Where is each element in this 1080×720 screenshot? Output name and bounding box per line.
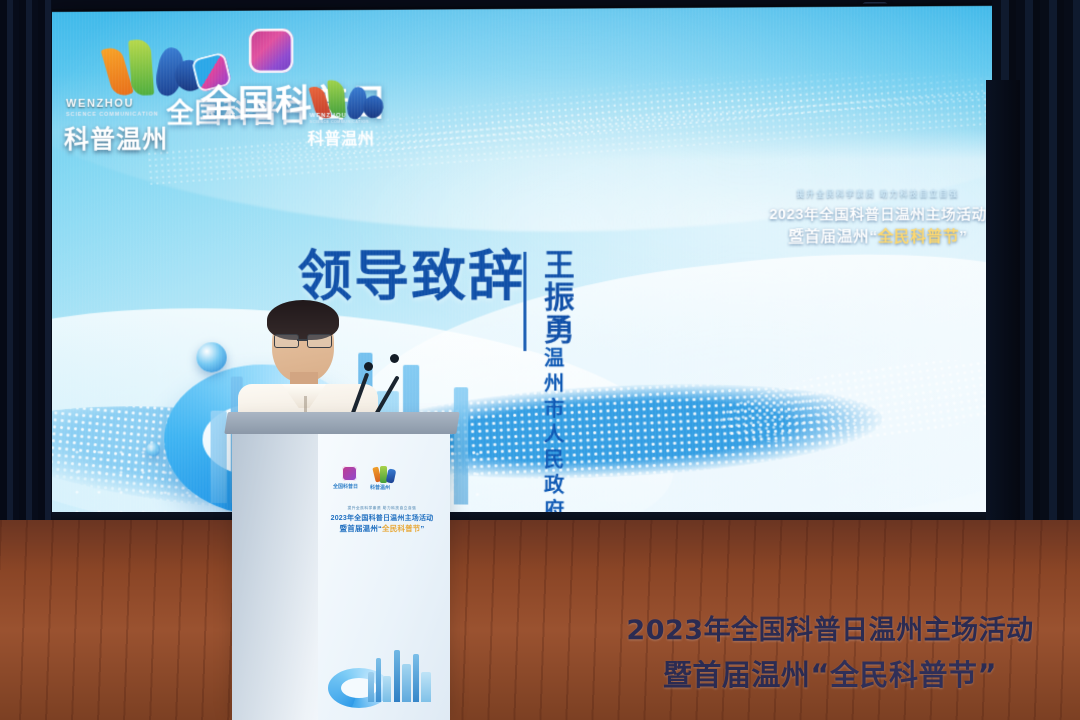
podium-logo-row: 全国科普日 科普温州 bbox=[336, 466, 402, 496]
caption-suffix: ” bbox=[978, 658, 998, 692]
podium-top-surface bbox=[224, 412, 459, 434]
led-video-wall: WENZHOU SCIENCE COMMUNICATION 科普温州 全国科普日… bbox=[46, 6, 1019, 527]
logo-en-primary: WENZHOU bbox=[310, 113, 347, 119]
podium-event-block: 提升全民科学素质 助力科技自立自强 2023年全国科普日温州主场活动 暨首届温州… bbox=[324, 506, 440, 534]
event-title-suffix: ” bbox=[959, 228, 967, 245]
slide-speaker-info: 王 振 勇 温州市人民政府副市长 温州市全民科学素质工作领导小组 组长 bbox=[544, 250, 585, 527]
podium-logo-right-label: 科普温州 bbox=[370, 484, 390, 491]
speaker-name: 王 振 勇 bbox=[544, 250, 585, 347]
logo-en-secondary: SCIENCE COMMUNICATION bbox=[66, 112, 159, 118]
glasses-icon bbox=[274, 334, 332, 346]
logo-en-secondary: SCIENCE COMMUNICATION bbox=[310, 120, 369, 124]
podium-logo-science-day: 全国科普日 bbox=[336, 466, 366, 496]
caption-line1: 2023年全国科普日温州主场活动 bbox=[600, 608, 1060, 647]
event-title-line1: 2023年全国科普日温州主场活动 bbox=[748, 203, 1009, 224]
podium-side-panel bbox=[232, 424, 320, 720]
microphone-head-icon bbox=[390, 354, 399, 363]
slide-speaker-panel: 领导致辞 王 振 勇 温州市人民政府副市长 温州市全民科学素质工作领导小组 组长 bbox=[297, 250, 525, 305]
podium-title-line2: 暨首届温州“全民科普节” bbox=[324, 523, 440, 534]
podium-title-prefix: 暨首届温州“ bbox=[340, 524, 382, 533]
slide-lead-label: 领导致辞 bbox=[297, 250, 525, 305]
bottom-caption: 2023年全国科普日温州主场活动 暨首届温州“全民科普节” bbox=[600, 608, 1060, 694]
stage-scene: WENZHOU SCIENCE COMMUNICATION 科普温州 全国科普日… bbox=[0, 0, 1080, 720]
screen-orb-graphic bbox=[146, 442, 160, 456]
caption-highlight: 全民科普节 bbox=[830, 658, 978, 692]
podium-skyline-graphic bbox=[366, 640, 438, 702]
screen-event-title-block: 提升全民科学素质 助力科技自立自强 2023年全国科普日温州主场活动 暨首届温州… bbox=[748, 188, 1009, 247]
event-title-highlight: 全民科普节 bbox=[878, 228, 959, 245]
podium-title-highlight: 全民科普节 bbox=[382, 524, 421, 533]
event-title-line2: 暨首届温州“全民科普节” bbox=[748, 225, 1009, 247]
science-day-cube-icon bbox=[249, 29, 293, 73]
screen-logo-row: WENZHOU SCIENCE COMMUNICATION 科普温州 全国科普日… bbox=[54, 20, 397, 147]
logo-en-primary: WENZHOU bbox=[66, 98, 134, 110]
logo-cn-name: 科普温州 bbox=[308, 125, 375, 149]
event-slogan: 提升全民科学素质 助力科技自立自强 bbox=[748, 188, 1009, 200]
stage-curtain-left bbox=[0, 0, 52, 560]
logo-cn-name: 科普温州 bbox=[64, 120, 168, 156]
podium-slogan: 提升全民科学素质 助力科技自立自强 bbox=[324, 506, 440, 511]
microphone-head-icon bbox=[364, 362, 373, 371]
caption-line2: 暨首届温州“全民科普节” bbox=[600, 652, 1060, 694]
speaker-title-1: 温州市人民政府副市长 bbox=[544, 346, 585, 526]
podium-graphic bbox=[328, 636, 438, 708]
podium-logo-left-label: 全国科普日 bbox=[333, 483, 358, 490]
logo-wenzhou-small: WENZHOU SCIENCE COMMUNICATION 科普温州 bbox=[295, 78, 392, 153]
wenzhou-fan-icon bbox=[110, 37, 200, 100]
podium-title-line1: 2023年全国科普日温州主场活动 bbox=[324, 513, 440, 523]
caption-prefix: 暨首届温州“ bbox=[663, 658, 830, 692]
event-title-prefix: 暨首届温州“ bbox=[788, 228, 878, 245]
podium-title-suffix: ” bbox=[421, 524, 425, 533]
slide-divider bbox=[523, 252, 526, 351]
podium-logo-wenzhou: 科普温州 bbox=[372, 466, 402, 496]
podium: 全国科普日 科普温州 提升全民科学素质 助力科技自立自强 2023年全国科普日温… bbox=[232, 424, 450, 720]
